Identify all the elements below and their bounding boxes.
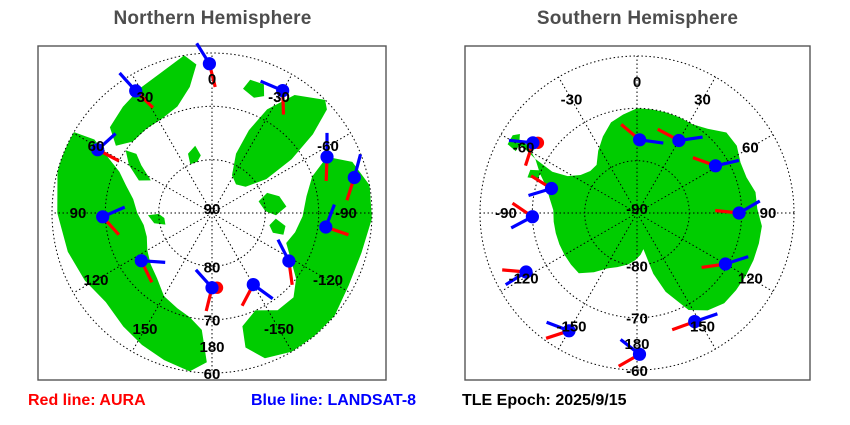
lat-ring-label: -70 (626, 311, 648, 328)
lon-label: 30 (694, 92, 711, 109)
lon-label: 0 (633, 74, 641, 91)
lon-label: -120 (313, 272, 343, 289)
landsat-position-dot (96, 210, 109, 223)
landmass-9 (148, 214, 165, 225)
southern-hemisphere-plot: -80-70-60-900306090120150180-150-120-90-… (425, 0, 850, 425)
landmass-2 (232, 95, 327, 187)
pole-label: 90 (204, 201, 221, 218)
lon-label: -60 (317, 138, 339, 155)
lon-label: -150 (264, 321, 294, 338)
lon-label: -120 (509, 271, 539, 288)
landsat-position-dot (672, 134, 685, 147)
landsat-position-dot (348, 171, 361, 184)
pole-label: -90 (626, 201, 648, 218)
lon-label: 150 (132, 321, 157, 338)
landsat-position-dot (719, 257, 732, 270)
southern-hemisphere-panel: Southern Hemisphere -80-70-60-9003060901… (425, 0, 850, 425)
northern-hemisphere-panel: Northern Hemisphere 80706090-15018015012… (0, 0, 425, 425)
lon-label: 120 (738, 271, 763, 288)
lon-label: 90 (760, 205, 777, 222)
lat-ring-label: 60 (204, 366, 221, 383)
lon-label: 90 (70, 205, 87, 222)
lon-label: -30 (268, 89, 290, 106)
lon-label: -150 (556, 318, 586, 335)
legend: Red line: AURA Blue line: LANDSAT-8 TLE … (0, 392, 850, 425)
lon-label: 150 (690, 318, 715, 335)
landsat-position-dot (526, 210, 539, 223)
lon-label: 30 (137, 89, 154, 106)
lat-ring-label: 80 (204, 259, 221, 276)
lon-label: -30 (561, 92, 583, 109)
landsat-position-dot (545, 182, 558, 195)
landsat-position-dot (733, 206, 746, 219)
lat-ring-label: -80 (626, 258, 648, 275)
landsat-position-dot (205, 281, 218, 294)
landmass-8 (126, 150, 151, 180)
lon-label: 180 (199, 339, 224, 356)
landsat-position-dot (709, 159, 722, 172)
landsat-position-dot (247, 278, 260, 291)
legend-tle-epoch: TLE Epoch: 2025/9/15 (462, 392, 627, 410)
lon-label: -90 (335, 205, 357, 222)
landsat-position-dot (633, 133, 646, 146)
lat-ring-label: -60 (626, 363, 648, 380)
satellite-marker (242, 278, 273, 306)
landsat-position-dot (203, 57, 216, 70)
lon-label: 120 (83, 272, 108, 289)
lon-label: -60 (513, 140, 535, 157)
lon-label: 60 (742, 140, 759, 157)
legend-aura: Red line: AURA (28, 392, 146, 410)
lat-ring-label: 70 (204, 313, 221, 330)
legend-landsat: Blue line: LANDSAT-8 (251, 392, 416, 410)
landsat-position-dot (135, 254, 148, 267)
landmass-5 (269, 219, 285, 235)
lon-label: -90 (495, 205, 517, 222)
landsat-position-dot (282, 254, 295, 267)
lon-label: 0 (208, 71, 216, 88)
northern-hemisphere-plot: 80706090-1501801501209060300-30-60-90-12… (0, 0, 425, 425)
landsat-position-dot (319, 220, 332, 233)
lon-label: 60 (88, 138, 105, 155)
lon-label: 180 (624, 336, 649, 353)
